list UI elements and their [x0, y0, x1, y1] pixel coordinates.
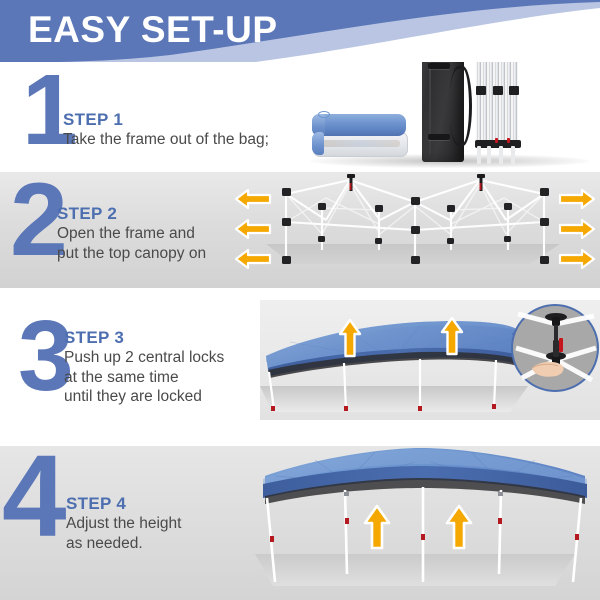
- step-desc-line: Push up 2 central locks: [64, 348, 224, 368]
- step-label-1: STEP 1: [63, 110, 269, 130]
- step-panel-1: 1 STEP 1 Take the frame out of the bag;: [0, 62, 600, 170]
- step-panel-4: 4 STEP 4 Adjust the height as needed.: [0, 446, 600, 600]
- step-desc-line: put the top canopy on: [57, 244, 206, 264]
- step-panel-2: 2 STEP 2 Open the frame and put the top …: [0, 172, 600, 288]
- step-label-3: STEP 3: [64, 328, 224, 348]
- pole-foot: [487, 146, 491, 164]
- step-text-block-2: STEP 2 Open the frame and put the top ca…: [57, 204, 206, 263]
- arrow-up-icon: [445, 504, 473, 550]
- arrow-up-icon: [363, 504, 391, 550]
- step-desc-4: Adjust the height as needed.: [66, 514, 181, 553]
- arrow-right-icon: [558, 218, 596, 240]
- arrow-up-icon: [338, 318, 362, 358]
- arrow-up-icon: [440, 316, 464, 356]
- black-carry-bag: [422, 62, 464, 162]
- pole-clip: [493, 86, 503, 95]
- step-panel-3: 3 STEP 3 Push up 2 central locks at the …: [0, 296, 600, 420]
- lock-indicator-red: [495, 138, 498, 143]
- arrow-right-icon: [558, 248, 596, 270]
- bag-zipper: [429, 62, 431, 154]
- canopy-full-graphic: [255, 446, 600, 600]
- arrow-right-icon: [558, 188, 596, 210]
- arrow-left-icon: [234, 248, 272, 270]
- step-desc-1: Take the frame out of the bag;: [63, 130, 269, 150]
- pole: [477, 62, 481, 147]
- pole: [513, 62, 517, 147]
- step-image-3: [260, 300, 600, 420]
- lock-indicator-red: [507, 138, 510, 143]
- center-lock-pin: [347, 174, 485, 191]
- pole-foot: [511, 146, 515, 164]
- step-text-block-4: STEP 4 Adjust the height as needed.: [66, 494, 181, 553]
- step-desc-line: Open the frame and: [57, 224, 206, 244]
- step-image-4: [255, 446, 600, 600]
- step-label-2: STEP 2: [57, 204, 206, 224]
- step-image-2: [230, 172, 600, 288]
- blue-roll-bag: [316, 114, 406, 136]
- page-title: EASY SET-UP: [28, 8, 278, 52]
- bag-buckle-top: [428, 63, 450, 69]
- pole: [507, 62, 511, 147]
- arrow-left-icon: [234, 188, 272, 210]
- pole-clip: [509, 86, 519, 95]
- pole: [483, 62, 487, 147]
- easy-setup-infographic: EASY SET-UP 1 STEP 1 Take the frame out …: [0, 0, 600, 600]
- roll-bag-handle: [318, 111, 330, 118]
- pole: [501, 62, 505, 147]
- pole: [489, 62, 493, 147]
- bag-buckle-bottom: [428, 134, 450, 140]
- step-number-4: 4: [2, 446, 67, 554]
- pole-foot: [477, 146, 481, 164]
- pole-clip: [476, 86, 486, 95]
- step-image-1: [300, 62, 600, 170]
- step-label-4: STEP 4: [66, 494, 181, 514]
- step-desc-2: Open the frame and put the top canopy on: [57, 224, 206, 263]
- step-desc-line: as needed.: [66, 534, 181, 554]
- folded-frame-poles: [473, 62, 525, 164]
- lock-detail-callout: [512, 305, 598, 391]
- pole-foot: [499, 146, 503, 164]
- canopy-locking-graphic: [260, 300, 600, 420]
- frame-skeleton-graphic: [230, 172, 600, 288]
- bag-carry-strap: [449, 66, 472, 146]
- arrow-left-icon: [234, 218, 272, 240]
- pole: [495, 62, 499, 147]
- step-desc-line: at the same time: [64, 368, 224, 388]
- clear-roll-bag-cap: [312, 132, 324, 155]
- step-desc-line: Take the frame out of the bag;: [63, 130, 269, 150]
- step-text-block-3: STEP 3 Push up 2 central locks at the sa…: [64, 328, 224, 407]
- step-text-block-1: STEP 1 Take the frame out of the bag;: [63, 110, 269, 150]
- step-desc-line: until they are locked: [64, 387, 224, 407]
- step-desc-line: Adjust the height: [66, 514, 181, 534]
- step-desc-3: Push up 2 central locks at the same time…: [64, 348, 224, 407]
